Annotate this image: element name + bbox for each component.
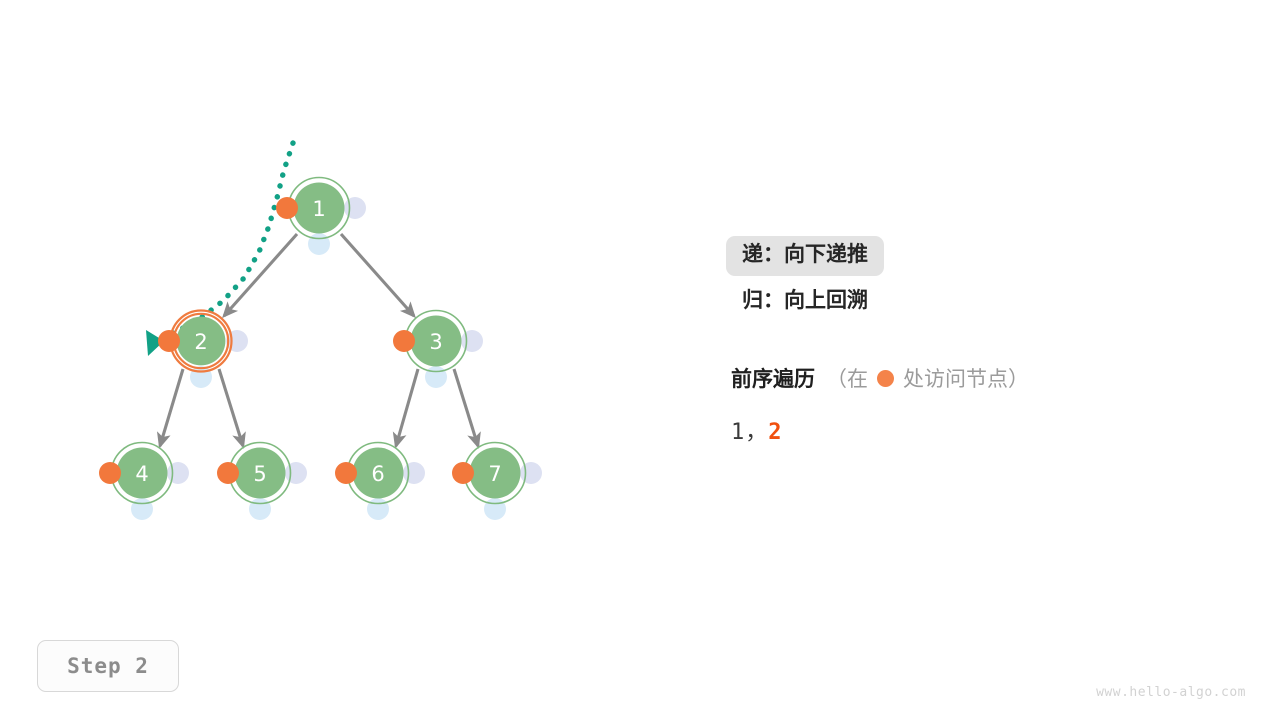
edge-2-5: [219, 369, 243, 446]
recursion-dotted-line: [155, 143, 293, 342]
node-2-left-dot: [158, 330, 180, 352]
node-7-bottom-dot: [484, 498, 506, 520]
watermark: www.hello-algo.com: [1096, 685, 1246, 700]
visit-sequence-current: 2: [768, 420, 782, 445]
legend-panel: 递：向下递推 归：向上回溯: [726, 233, 1246, 325]
node-2-right-dot: [226, 330, 248, 352]
node-1-right-dot: [344, 197, 366, 219]
node-4-bottom-dot: [131, 498, 153, 520]
node-6-right-dot: [403, 462, 425, 484]
tree-nodes: [99, 178, 542, 521]
visit-sequence: 1，2: [731, 414, 1251, 446]
node-4-right-dot: [167, 462, 189, 484]
traversal-paren-close: 处访问节点）: [903, 363, 1029, 393]
legend-row-backtrack: 归：向上回溯: [726, 279, 1246, 325]
binary-tree-diagram: [0, 0, 700, 600]
node-7-right-dot: [520, 462, 542, 484]
tree-node-7[interactable]: [452, 443, 542, 521]
node-7-left-dot: [452, 462, 474, 484]
edge-3-7: [454, 369, 478, 446]
animation-canvas: 1 2 3 4 5 6 7 递：向下递推 归：向上回溯 前序遍历 （在 处访问节…: [0, 0, 1280, 720]
node-6-left-dot: [335, 462, 357, 484]
node-4-body: [117, 448, 168, 499]
node-1-body: [294, 183, 345, 234]
node-4-left-dot: [99, 462, 121, 484]
tree-node-6[interactable]: [335, 443, 425, 521]
node-3-left-dot: [393, 330, 415, 352]
node-6-bottom-dot: [367, 498, 389, 520]
step-badge-label: Step 2: [67, 654, 149, 678]
edge-3-6: [396, 369, 418, 446]
node-3-bottom-dot: [425, 366, 447, 388]
legend-label-backtrack: 归：向上回溯: [726, 282, 884, 321]
node-3-body: [411, 316, 462, 367]
node-2-body: [177, 317, 226, 366]
legend-row-recurse: 递：向下递推: [726, 233, 1246, 279]
traversal-panel: 前序遍历 （在 处访问节点） 1，2: [731, 360, 1251, 446]
edge-1-2: [224, 234, 297, 316]
edge-1-3: [341, 234, 414, 316]
legend-label-recurse: 递：向下递推: [726, 236, 884, 275]
edge-2-4: [160, 369, 183, 446]
step-badge: Step 2: [37, 640, 179, 692]
node-1-left-dot: [276, 197, 298, 219]
node-5-body: [235, 448, 286, 499]
traversal-title: 前序遍历: [731, 363, 815, 393]
tree-node-3[interactable]: [393, 311, 483, 389]
node-5-bottom-dot: [249, 498, 271, 520]
node-1-bottom-dot: [308, 233, 330, 255]
traversal-paren-open: （在: [826, 363, 868, 393]
tree-node-2[interactable]: [158, 311, 248, 389]
traversal-heading: 前序遍历 （在 处访问节点）: [731, 360, 1251, 396]
node-5-left-dot: [217, 462, 239, 484]
node-7-body: [470, 448, 521, 499]
tree-node-5[interactable]: [217, 443, 307, 521]
recursion-path: [146, 143, 293, 356]
orange-dot-icon: [877, 370, 894, 387]
visit-sequence-previous: 1，: [731, 420, 768, 445]
tree-node-4[interactable]: [99, 443, 189, 521]
node-6-body: [353, 448, 404, 499]
node-3-right-dot: [461, 330, 483, 352]
node-5-right-dot: [285, 462, 307, 484]
